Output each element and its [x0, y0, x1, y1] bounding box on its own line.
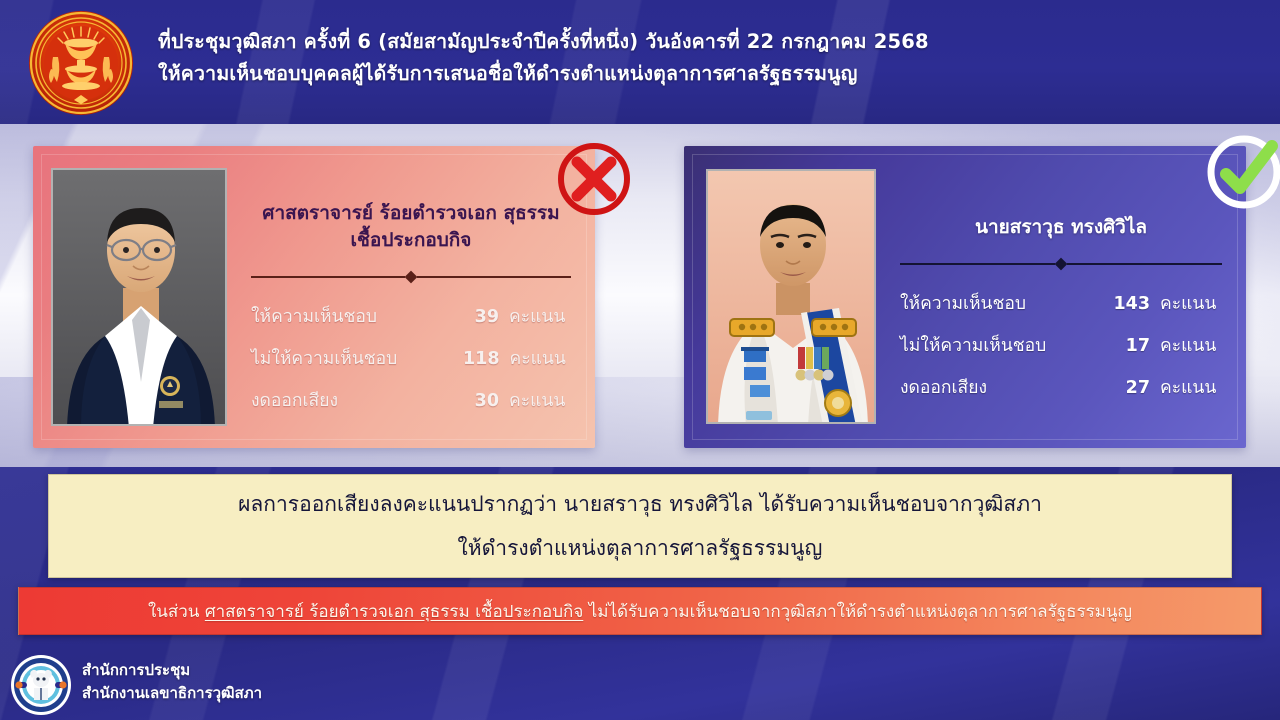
vote-unit: คะแนน	[509, 386, 571, 414]
check-mark-icon	[1198, 126, 1280, 218]
vote-row: งดออกเสียง 27 คะแนน	[900, 373, 1222, 401]
header-title: ที่ประชุมวุฒิสภา ครั้งที่ 6 (สมัยสามัญปร…	[158, 26, 1258, 90]
vote-row: ไม่ให้ความเห็นชอบ 17 คะแนน	[900, 331, 1222, 359]
candidate-name-line1: นายสราวุธ ทรงศิวิไล	[894, 214, 1228, 241]
candidate-portrait-approved	[706, 169, 876, 424]
vote-count: 30	[463, 391, 509, 411]
vote-count: 39	[463, 307, 509, 327]
vote-row: ให้ความเห็นชอบ 143 คะแนน	[900, 289, 1222, 317]
candidate-name-rejected: ศาสตราจารย์ ร้อยตำรวจเอก สุธรรม เชื้อประ…	[245, 164, 577, 254]
note-prefix: ในส่วน	[148, 602, 205, 622]
rejection-note-bar: ในส่วน ศาสตราจารย์ ร้อยตำรวจเอก สุธรรม เ…	[18, 587, 1262, 635]
header-title-line2: ให้ความเห็นชอบบุคคลผู้ได้รับการเสนอชื่อใ…	[158, 58, 1258, 90]
vote-row: ไม่ให้ความเห็นชอบ 118 คะแนน	[251, 344, 571, 372]
card-divider	[900, 257, 1222, 271]
vote-label: ไม่ให้ความเห็นชอบ	[251, 344, 463, 372]
result-summary-box: ผลการออกเสียงลงคะแนนปรากฏว่า นายสราวุธ ท…	[48, 474, 1232, 578]
footer-line-1: สำนักการประชุม	[82, 659, 262, 682]
card-body-rejected: ศาสตราจารย์ ร้อยตำรวจเอก สุธรรม เชื้อประ…	[245, 164, 577, 430]
diamond-icon	[405, 271, 418, 284]
footer-organization: สำนักการประชุม สำนักงานเลขาธิการวุฒิสภา	[82, 659, 262, 705]
vote-label: ให้ความเห็นชอบ	[900, 289, 1112, 317]
thai-senate-emblem	[27, 9, 135, 117]
candidate-card-rejected[interactable]: ศาสตราจารย์ ร้อยตำรวจเอก สุธรรม เชื้อประ…	[33, 146, 595, 448]
vote-row: งดออกเสียง 30 คะแนน	[251, 386, 571, 414]
vote-count: 27	[1112, 378, 1160, 398]
vote-row: ให้ความเห็นชอบ 39 คะแนน	[251, 302, 571, 330]
candidate-portrait-rejected	[51, 168, 227, 426]
vote-unit: คะแนน	[1160, 373, 1222, 401]
vote-unit: คะแนน	[509, 302, 571, 330]
candidate-name-approved: นายสราวุธ ทรงศิวิไล	[894, 164, 1228, 241]
vote-count: 118	[463, 349, 510, 369]
candidate-name-line2: เชื้อประกอบกิจ	[245, 227, 577, 254]
header-title-line1: ที่ประชุมวุฒิสภา ครั้งที่ 6 (สมัยสามัญปร…	[158, 26, 1258, 58]
vote-unit: คะแนน	[510, 344, 572, 372]
card-divider	[251, 270, 571, 284]
vote-label: งดออกเสียง	[900, 373, 1112, 401]
vote-label: ให้ความเห็นชอบ	[251, 302, 463, 330]
x-mark-icon	[551, 136, 637, 222]
senate-meeting-bureau-logo	[10, 654, 72, 716]
rejection-note-text: ในส่วน ศาสตราจารย์ ร้อยตำรวจเอก สุธรรม เ…	[148, 598, 1132, 625]
result-line-2: ให้ดำรงตำแหน่งตุลาการศาลรัฐธรรมนูญ	[458, 526, 823, 570]
note-candidate-name: ศาสตราจารย์ ร้อยตำรวจเอก สุธรรม เชื้อประ…	[205, 602, 583, 622]
vote-count: 143	[1112, 294, 1160, 314]
vote-count: 17	[1112, 336, 1160, 356]
vote-results-approved: ให้ความเห็นชอบ 143 คะแนน ไม่ให้ความเห็นช…	[894, 289, 1228, 401]
vote-unit: คะแนน	[1160, 331, 1222, 359]
footer-line-2: สำนักงานเลขาธิการวุฒิสภา	[82, 682, 262, 705]
card-body-approved: นายสราวุธ ทรงศิวิไล ให้ความเห็นชอบ 143 ค…	[894, 164, 1228, 430]
candidate-card-approved[interactable]: นายสราวุธ ทรงศิวิไล ให้ความเห็นชอบ 143 ค…	[684, 146, 1246, 448]
result-line-1: ผลการออกเสียงลงคะแนนปรากฏว่า นายสราวุธ ท…	[238, 482, 1042, 526]
note-suffix: ไม่ได้รับความเห็นชอบจากวุฒิสภาให้ดำรงตำแ…	[583, 602, 1132, 622]
vote-label: งดออกเสียง	[251, 386, 463, 414]
diamond-icon	[1055, 258, 1068, 271]
vote-label: ไม่ให้ความเห็นชอบ	[900, 331, 1112, 359]
vote-unit: คะแนน	[1160, 289, 1222, 317]
presentation-slide: ที่ประชุมวุฒิสภา ครั้งที่ 6 (สมัยสามัญปร…	[0, 0, 1280, 720]
candidate-name-line1: ศาสตราจารย์ ร้อยตำรวจเอก สุธรรม	[245, 200, 577, 227]
vote-results-rejected: ให้ความเห็นชอบ 39 คะแนน ไม่ให้ความเห็นชอ…	[245, 302, 577, 414]
